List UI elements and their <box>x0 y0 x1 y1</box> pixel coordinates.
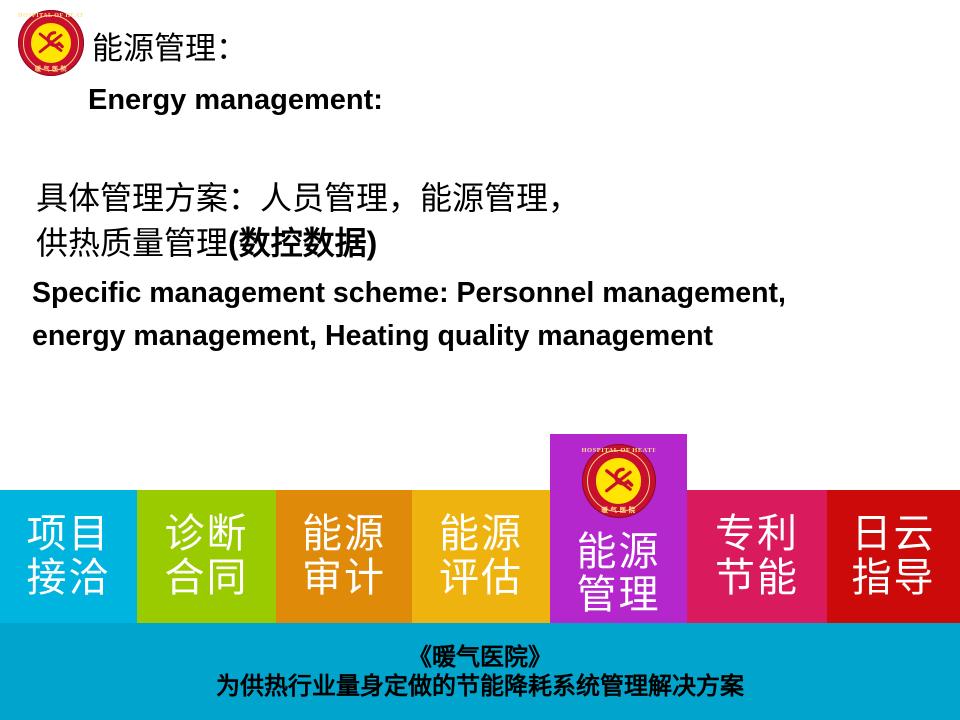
heating-hospital-logo-icon: HOSPITAL OF HEATING SYSTEM 暖 气 医 院 <box>18 10 84 76</box>
process-tile-label-line2: 评估 <box>439 557 523 600</box>
process-tile-label-line2: 审计 <box>302 557 386 600</box>
page-title-cn: 能源管理： <box>92 34 247 65</box>
process-tile-bar: 项目接洽诊断合同能源审计能源评估HOSPITAL OF HEATING SYST… <box>0 490 960 623</box>
heating-hospital-logo-icon: HOSPITAL OF HEATING SYSTEM暖 气 医 院 <box>582 444 656 518</box>
bottom-banner: 《暖气医院》 为供热行业量身定做的节能降耗系统管理解决方案 <box>0 623 960 720</box>
emblem-ring-text-top: HOSPITAL OF HEATING SYSTEM <box>582 447 656 454</box>
emblem-ring-text-bottom: 暖 气 医 院 <box>18 64 84 73</box>
banner-subtitle: 为供热行业量身定做的节能降耗系统管理解决方案 <box>216 672 744 700</box>
process-tile-label-line2: 指导 <box>852 557 936 600</box>
process-tile-5[interactable]: HOSPITAL OF HEATING SYSTEM暖 气 医 院能源管理 <box>550 434 687 623</box>
body-text-cn: 具体管理方案：人员管理，能源管理， 供热质量管理(数控数据) <box>36 176 580 267</box>
body-cn-line-2-paren: (数控数据) <box>228 225 377 261</box>
process-tile-label-line1: 专利 <box>715 513 799 556</box>
process-tile-label-line2: 节能 <box>715 557 799 600</box>
emblem-ring-text-top: HOSPITAL OF HEATING SYSTEM <box>18 13 84 19</box>
process-tile-label-line1: 能源 <box>302 513 386 556</box>
process-tile-6[interactable]: 专利节能 <box>687 490 827 623</box>
process-tile-7[interactable]: 日云指导 <box>827 490 960 623</box>
process-tile-1[interactable]: 项目接洽 <box>0 490 137 623</box>
body-text-en: Specific management scheme: Personnel ma… <box>32 272 852 359</box>
body-cn-line-2: 供热质量管理(数控数据) <box>36 221 580 266</box>
wrench-icon <box>601 463 637 499</box>
process-tile-label-line1: 能源 <box>577 531 661 574</box>
body-cn-line-2-main: 供热质量管理 <box>36 224 228 262</box>
process-tile-label-line1: 诊断 <box>165 513 249 556</box>
process-tile-label-line1: 项目 <box>27 513 111 556</box>
process-tile-label-line2: 管理 <box>577 574 661 617</box>
banner-title: 《暖气医院》 <box>408 643 552 671</box>
process-tile-3[interactable]: 能源审计 <box>276 490 412 623</box>
slide-canvas: HOSPITAL OF HEATING SYSTEM 暖 气 医 院 能源管理：… <box>0 0 960 720</box>
process-tile-label-line1: 日云 <box>852 513 936 556</box>
wrench-icon <box>35 27 67 59</box>
process-tile-label-line2: 接洽 <box>27 557 111 600</box>
body-cn-line-1: 具体管理方案：人员管理，能源管理， <box>36 176 580 221</box>
process-tile-label-line2: 合同 <box>165 557 249 600</box>
page-title-en: Energy management: <box>88 86 383 115</box>
process-tile-2[interactable]: 诊断合同 <box>137 490 276 623</box>
process-tile-label-line1: 能源 <box>439 513 523 556</box>
emblem-ring-text-bottom: 暖 气 医 院 <box>582 504 656 514</box>
process-tile-4[interactable]: 能源评估 <box>412 490 550 623</box>
